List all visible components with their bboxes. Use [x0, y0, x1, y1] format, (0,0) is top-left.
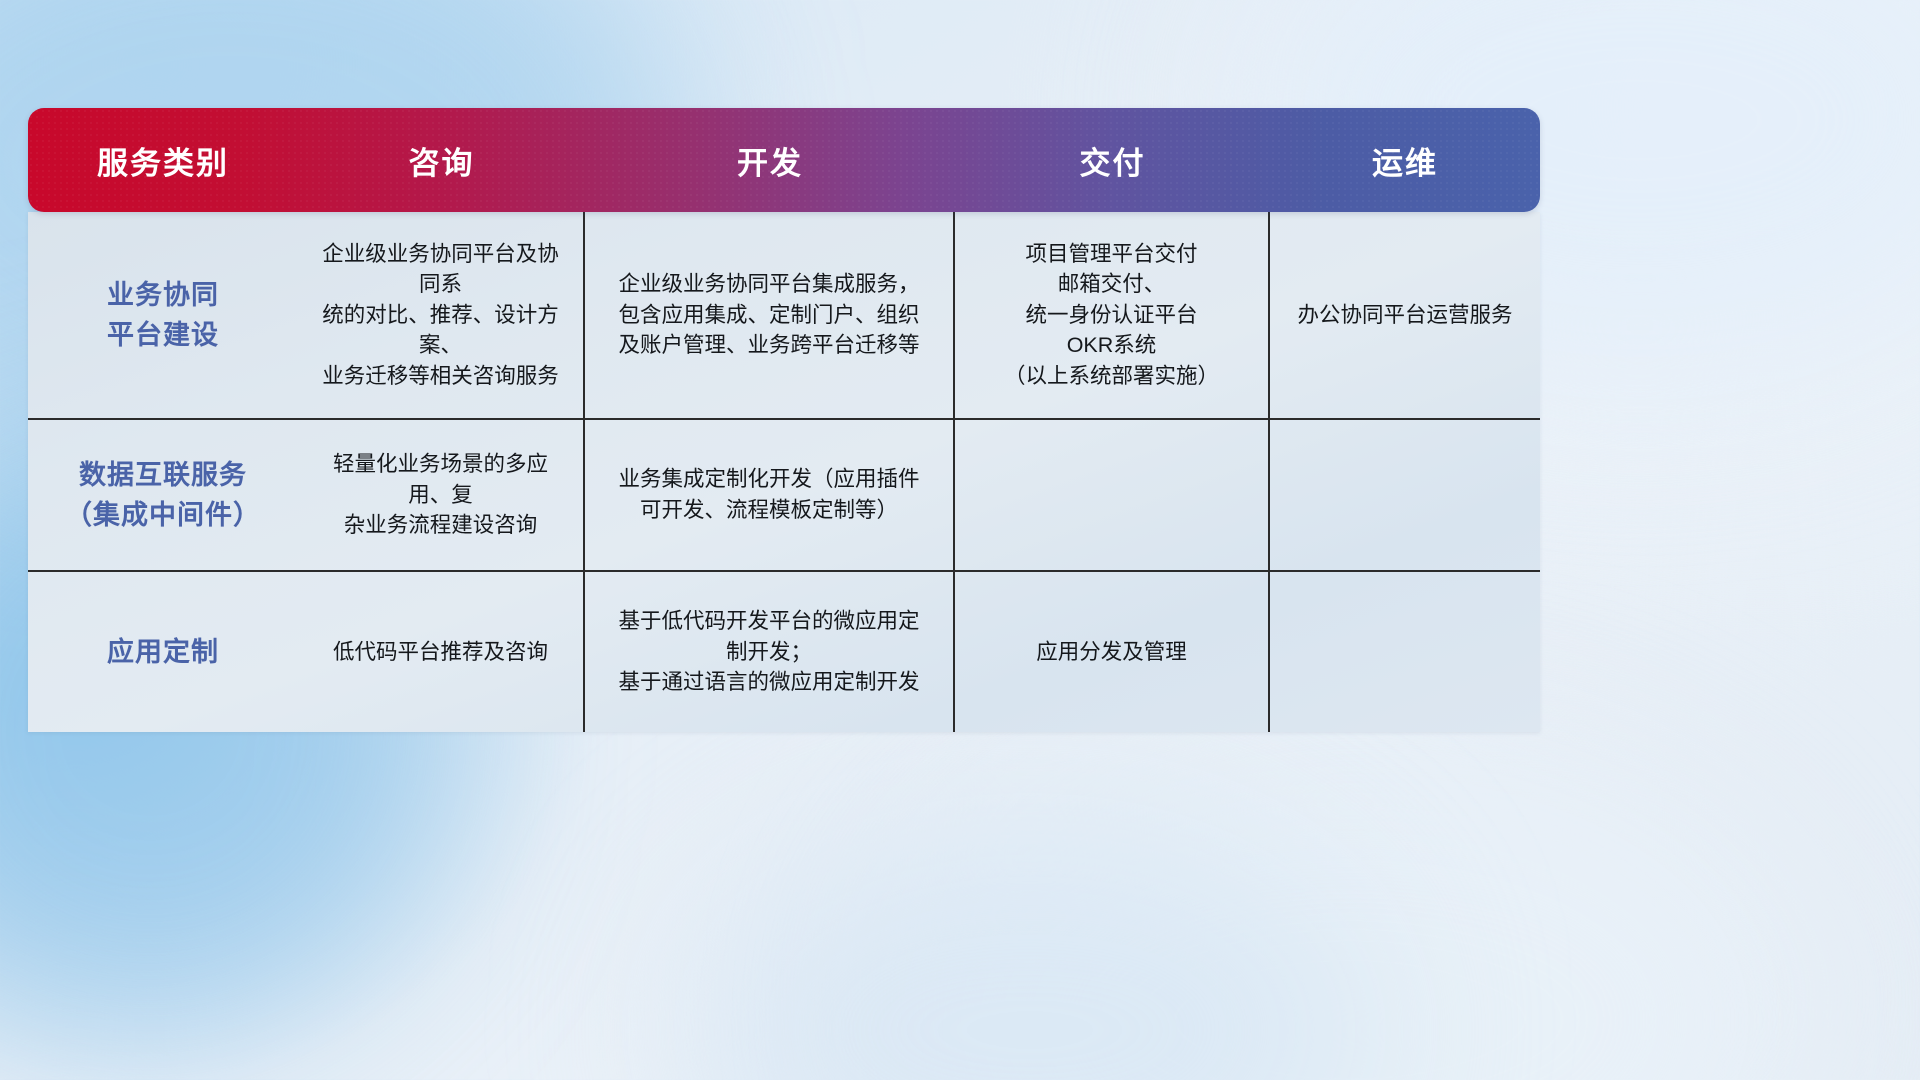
cell-delivery: 应用分发及管理 — [955, 572, 1270, 732]
row-label-business-collaboration: 业务协同 平台建设 — [28, 212, 298, 418]
column-header-label: 咨询 — [409, 138, 475, 183]
column-header-label: 服务类别 — [97, 138, 229, 183]
cell-development: 业务集成定制化开发（应用插件 可开发、流程模板定制等） — [585, 420, 955, 570]
column-header-operations: 运维 — [1270, 108, 1540, 212]
cell-development: 基于低代码开发平台的微应用定 制开发； 基于通过语言的微应用定制开发 — [585, 572, 955, 732]
cell-delivery — [955, 420, 1270, 570]
cell-operations — [1270, 572, 1540, 732]
cell-development: 企业级业务协同平台集成服务， 包含应用集成、定制门户、组织 及账户管理、业务跨平… — [585, 212, 955, 418]
background-blob — [900, 740, 1800, 1080]
column-header-label: 交付 — [1080, 138, 1146, 183]
column-header-delivery: 交付 — [955, 108, 1270, 212]
cell-consulting: 企业级业务协同平台及协同系 统的对比、推荐、设计方案、 业务迁移等相关咨询服务 — [298, 212, 585, 418]
cell-consulting: 轻量化业务场景的多应用、复 杂业务流程建设咨询 — [298, 420, 585, 570]
cell-delivery: 项目管理平台交付 邮箱交付、 统一身份认证平台 OKR系统 （以上系统部署实施） — [955, 212, 1270, 418]
table-row: 数据互联服务 （集成中间件）轻量化业务场景的多应用、复 杂业务流程建设咨询 业务… — [28, 420, 1540, 572]
table-row: 业务协同 平台建设企业级业务协同平台及协同系 统的对比、推荐、设计方案、 业务迁… — [28, 212, 1540, 420]
cell-operations: 办公协同平台运营服务 — [1270, 212, 1540, 418]
column-header-service-category: 服务类别 — [28, 108, 298, 212]
column-header-label: 运维 — [1372, 138, 1438, 183]
table-row: 应用定制低代码平台推荐及咨询 基于低代码开发平台的微应用定 制开发； 基于通过语… — [28, 572, 1540, 732]
cell-consulting: 低代码平台推荐及咨询 — [298, 572, 585, 732]
table-body: 业务协同 平台建设企业级业务协同平台及协同系 统的对比、推荐、设计方案、 业务迁… — [28, 212, 1540, 732]
column-header-development: 开发 — [585, 108, 955, 212]
service-matrix-table: 服务类别 咨询 开发 交付 运维 业务协同 平台建设企业级业务协同平台及协同系 … — [28, 108, 1540, 732]
row-label-data-interconnect: 数据互联服务 （集成中间件） — [28, 420, 298, 570]
table-header-row: 服务类别 咨询 开发 交付 运维 — [28, 108, 1540, 212]
column-header-label: 开发 — [737, 138, 803, 183]
column-header-consulting: 咨询 — [298, 108, 585, 212]
row-label-app-customization: 应用定制 — [28, 572, 298, 732]
background-blob — [680, 820, 1380, 1080]
cell-operations — [1270, 420, 1540, 570]
